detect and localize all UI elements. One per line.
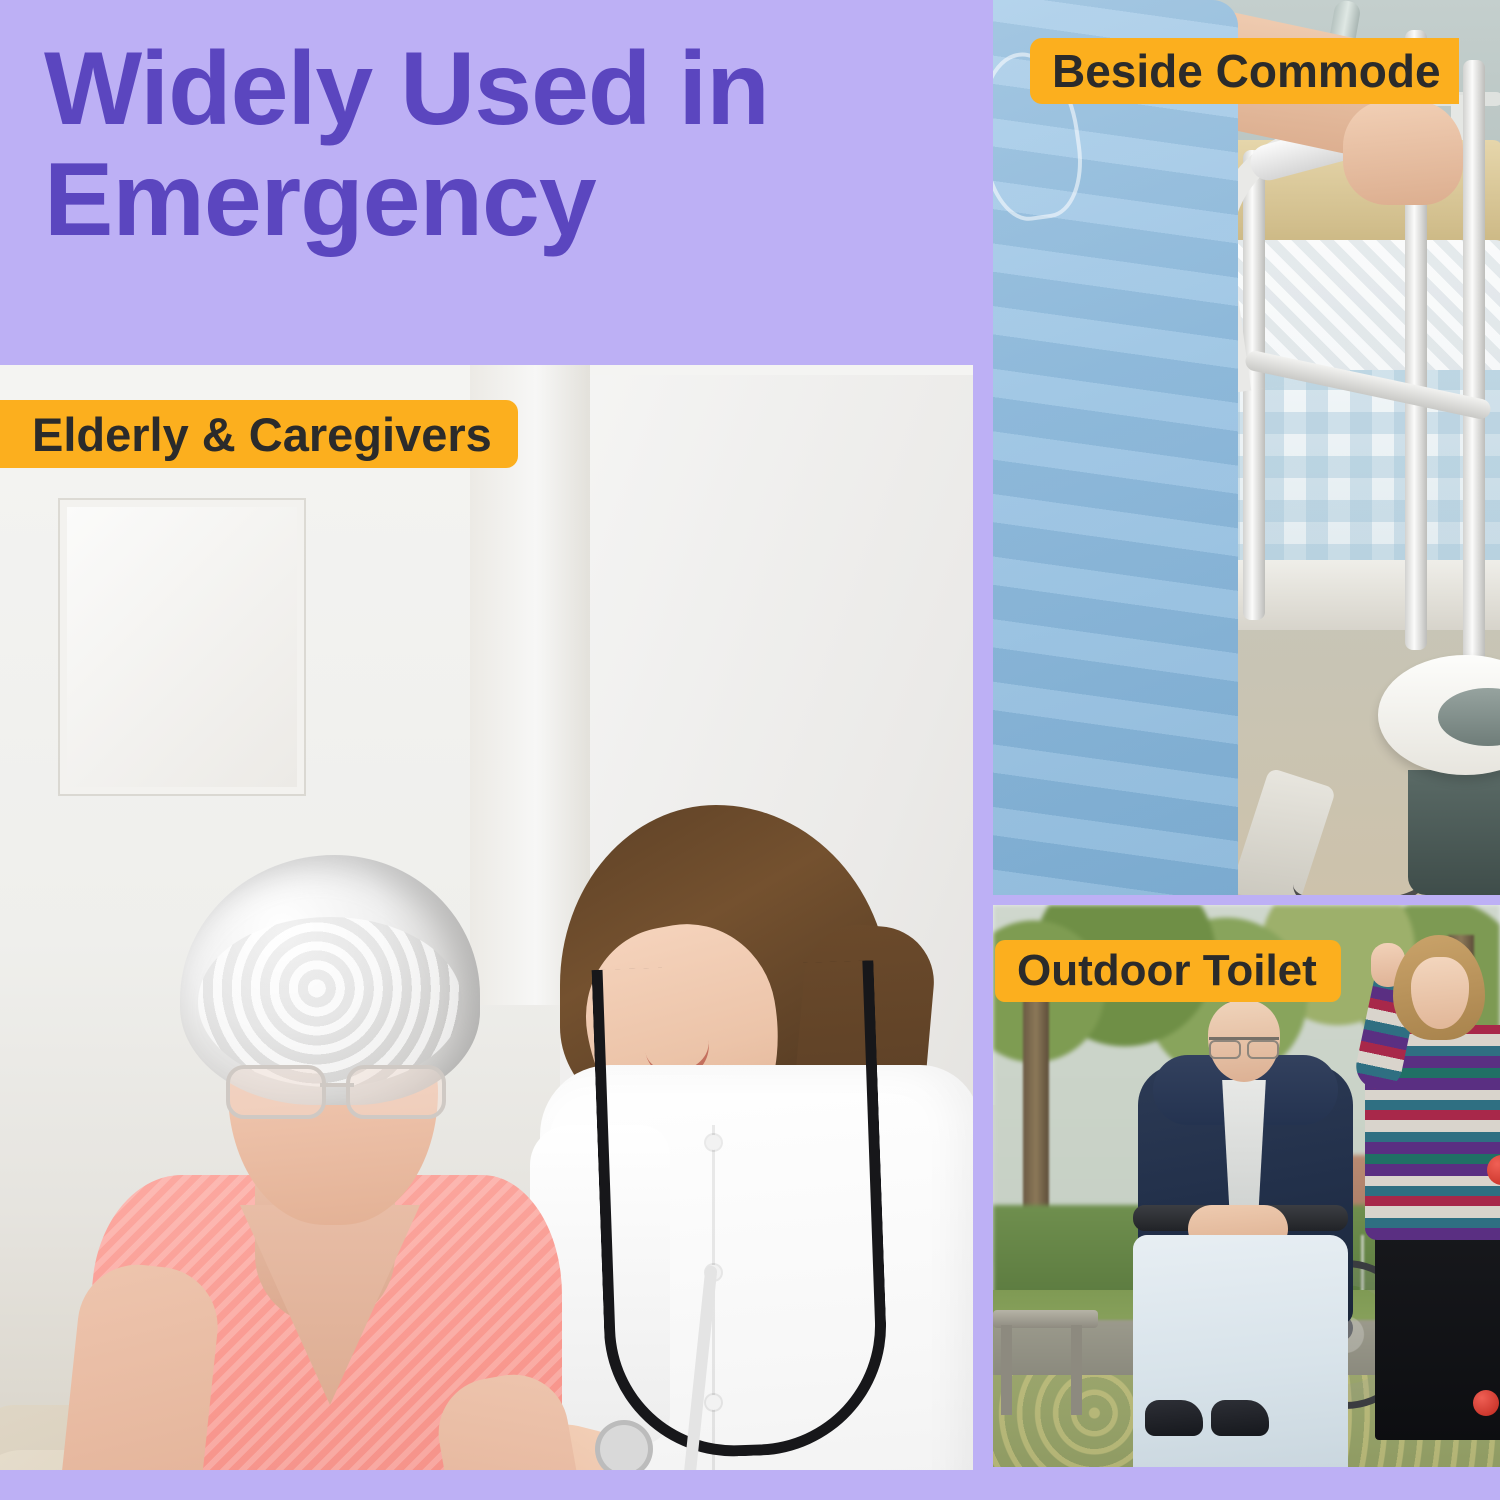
stethoscope-tubing	[592, 960, 891, 1461]
stethoscope-chestpiece	[600, 1425, 648, 1470]
scene-hospital-bedside	[993, 0, 1500, 895]
patient-hand-gripping-walker	[1343, 100, 1463, 205]
scene-care-room	[0, 365, 973, 1470]
bench-leg	[1071, 1325, 1082, 1415]
page-title: Widely Used in Emergency	[44, 34, 944, 257]
photo-beside-commode	[993, 0, 1500, 895]
badge-beside-commode: Beside Commode	[1030, 38, 1459, 104]
man-eyeglasses	[1209, 1037, 1279, 1057]
eyeglass-lens-left	[226, 1065, 326, 1119]
commode-bucket	[1408, 770, 1500, 895]
red-ball	[1473, 1390, 1499, 1416]
man-shoe	[1211, 1400, 1269, 1436]
eyeglass-lens-right	[346, 1065, 446, 1119]
elderly-eyeglasses	[222, 1065, 450, 1113]
wall-frame	[60, 500, 304, 794]
walker-upright	[1463, 60, 1485, 700]
infographic-canvas: Widely Used in Emergency	[0, 0, 1500, 1500]
eyeglass-bridge	[320, 1083, 354, 1087]
badge-outdoor-toilet: Outdoor Toilet	[995, 940, 1341, 1002]
man-shoe	[1145, 1400, 1203, 1436]
blue-hospital-gown	[993, 0, 1238, 895]
badge-elderly-caregivers: Elderly & Caregivers	[0, 400, 518, 468]
bench-leg	[1001, 1325, 1012, 1415]
photo-elderly-caregivers	[0, 365, 973, 1470]
